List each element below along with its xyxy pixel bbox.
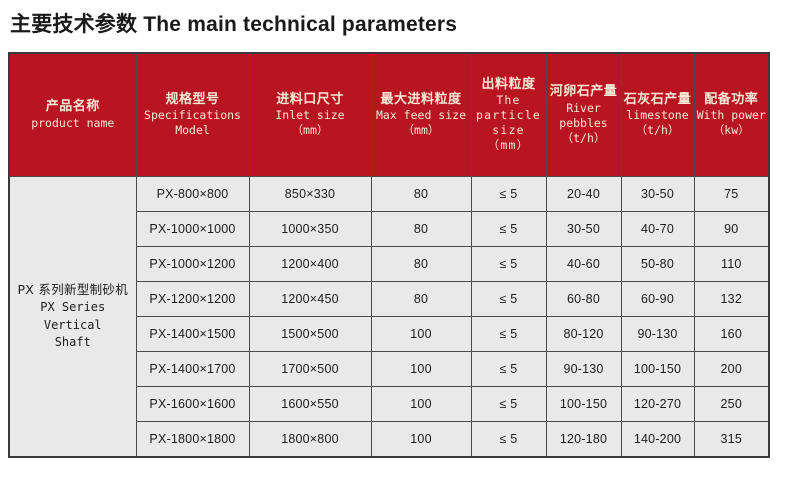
cell-limestone: 50-80: [621, 247, 694, 282]
column-header-inlet-size: 进料口尺寸 Inlet size （mm）: [249, 53, 371, 177]
column-header-en: Inlet size: [250, 108, 371, 123]
cell-max-feed-size: 80: [371, 212, 471, 247]
cell-river-pebbles: 20-40: [546, 177, 621, 212]
cell-power: 160: [694, 317, 769, 352]
column-header-en: limestone: [622, 108, 694, 123]
cell-inlet-size: 1600×550: [249, 387, 371, 422]
column-header-particle-size: 出料粒度 The particle size （mm）: [471, 53, 546, 177]
column-header-unit: （kw）: [695, 123, 769, 138]
product-name-en: Shaft: [10, 334, 136, 351]
column-header-unit: （mm）: [472, 138, 546, 153]
column-header-limestone: 石灰石产量 limestone （t/h）: [621, 53, 694, 177]
column-header-product-name: 产品名称 product name: [9, 53, 136, 177]
column-header-max-feed-size: 最大进料粒度 Max feed size （mm）: [371, 53, 471, 177]
cell-river-pebbles: 90-130: [546, 352, 621, 387]
cell-power: 90: [694, 212, 769, 247]
cell-limestone: 100-150: [621, 352, 694, 387]
column-header-cn: 进料口尺寸: [250, 92, 371, 108]
column-header-cn: 配备功率: [695, 92, 769, 108]
cell-particle-size: ≤ 5: [471, 282, 546, 317]
cell-model: PX-1000×1000: [136, 212, 249, 247]
product-name-cell: PX 系列新型制砂机 PX Series Vertical Shaft: [9, 177, 136, 458]
column-header-cn: 石灰石产量: [622, 92, 694, 108]
column-header-en: With power: [695, 108, 769, 123]
cell-model: PX-800×800: [136, 177, 249, 212]
cell-inlet-size: 1200×450: [249, 282, 371, 317]
column-header-en: The: [472, 93, 546, 108]
cell-inlet-size: 1000×350: [249, 212, 371, 247]
cell-model: PX-1400×1700: [136, 352, 249, 387]
product-name-en: PX Series Vertical: [10, 299, 136, 334]
column-header-unit: （t/h）: [622, 123, 694, 138]
column-header-cn: 规格型号: [137, 92, 249, 108]
column-header-unit: （mm）: [250, 123, 371, 138]
page-title: 主要技术参数 The main technical parameters: [10, 8, 457, 38]
cell-model: PX-1600×1600: [136, 387, 249, 422]
column-header-en: River: [547, 101, 621, 116]
column-header-unit: （t/h）: [547, 131, 621, 146]
table-row: PX 系列新型制砂机 PX Series Vertical Shaft PX-8…: [9, 177, 769, 212]
column-header-cn: 出料粒度: [472, 77, 546, 93]
cell-particle-size: ≤ 5: [471, 317, 546, 352]
cell-limestone: 90-130: [621, 317, 694, 352]
cell-inlet-size: 1500×500: [249, 317, 371, 352]
cell-particle-size: ≤ 5: [471, 387, 546, 422]
cell-limestone: 120-270: [621, 387, 694, 422]
cell-max-feed-size: 100: [371, 352, 471, 387]
cell-inlet-size: 1800×800: [249, 422, 371, 458]
cell-particle-size: ≤ 5: [471, 177, 546, 212]
cell-model: PX-1800×1800: [136, 422, 249, 458]
cell-limestone: 30-50: [621, 177, 694, 212]
cell-max-feed-size: 100: [371, 317, 471, 352]
column-header-en: product name: [10, 116, 136, 131]
cell-model: PX-1400×1500: [136, 317, 249, 352]
column-header-river-pebbles: 河卵石产量 River pebbles （t/h）: [546, 53, 621, 177]
cell-inlet-size: 850×330: [249, 177, 371, 212]
cell-model: PX-1000×1200: [136, 247, 249, 282]
column-header-en: particle: [472, 108, 546, 123]
column-header-cn: 最大进料粒度: [372, 92, 471, 108]
column-header-unit: （mm）: [372, 123, 471, 138]
column-header-en: size: [472, 123, 546, 138]
cell-power: 75: [694, 177, 769, 212]
cell-river-pebbles: 60-80: [546, 282, 621, 317]
cell-particle-size: ≤ 5: [471, 212, 546, 247]
column-header-en: pebbles: [547, 116, 621, 131]
column-header-en: Specifications: [137, 108, 249, 123]
cell-river-pebbles: 100-150: [546, 387, 621, 422]
cell-max-feed-size: 100: [371, 422, 471, 458]
cell-river-pebbles: 40-60: [546, 247, 621, 282]
column-header-en: Model: [137, 123, 249, 138]
cell-power: 132: [694, 282, 769, 317]
cell-max-feed-size: 80: [371, 247, 471, 282]
cell-river-pebbles: 80-120: [546, 317, 621, 352]
table-header-row: 产品名称 product name 规格型号 Specifications Mo…: [9, 53, 769, 177]
cell-max-feed-size: 100: [371, 387, 471, 422]
cell-limestone: 40-70: [621, 212, 694, 247]
cell-power: 315: [694, 422, 769, 458]
cell-limestone: 60-90: [621, 282, 694, 317]
cell-power: 110: [694, 247, 769, 282]
cell-power: 250: [694, 387, 769, 422]
column-header-cn: 产品名称: [10, 99, 136, 115]
cell-river-pebbles: 30-50: [546, 212, 621, 247]
cell-particle-size: ≤ 5: [471, 247, 546, 282]
column-header-en: Max feed size: [372, 108, 471, 123]
cell-river-pebbles: 120-180: [546, 422, 621, 458]
product-name-cn: PX 系列新型制砂机: [10, 281, 136, 299]
column-header-cn: 河卵石产量: [547, 84, 621, 100]
cell-max-feed-size: 80: [371, 177, 471, 212]
cell-particle-size: ≤ 5: [471, 422, 546, 458]
cell-power: 200: [694, 352, 769, 387]
column-header-with-power: 配备功率 With power （kw）: [694, 53, 769, 177]
cell-limestone: 140-200: [621, 422, 694, 458]
cell-particle-size: ≤ 5: [471, 352, 546, 387]
cell-model: PX-1200×1200: [136, 282, 249, 317]
technical-parameters-table: 产品名称 product name 规格型号 Specifications Mo…: [8, 52, 770, 458]
cell-inlet-size: 1200×400: [249, 247, 371, 282]
column-header-specifications-model: 规格型号 Specifications Model: [136, 53, 249, 177]
cell-inlet-size: 1700×500: [249, 352, 371, 387]
cell-max-feed-size: 80: [371, 282, 471, 317]
